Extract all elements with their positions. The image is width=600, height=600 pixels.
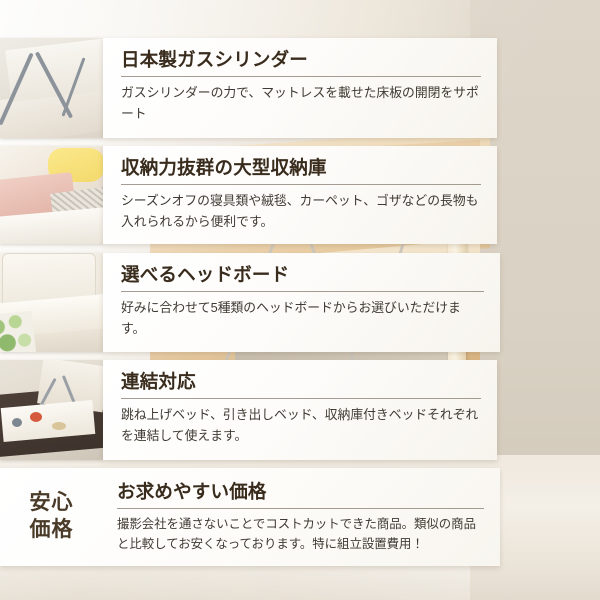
feature-description: ガスシリンダーの力で、マットレスを載せた床板の開閉をサポート [121,83,481,124]
badge-line-1: 安心 [0,490,103,517]
feature-card: 収納力抜群の大型収納庫 シーズンオフの寝具類や絨毯、カーペット、ゴザなどの長物も… [103,146,497,244]
feature-row-large-storage[interactable]: 収納力抜群の大型収納庫 シーズンオフの寝具類や絨毯、カーペット、ゴザなどの長物も… [0,146,497,244]
feature-row-gas-cylinder[interactable]: 日本製ガスシリンダー ガスシリンダーの力で、マットレスを載せた床板の開閉をサポー… [0,38,497,138]
feature-row-headboard-choice[interactable]: 選べるヘッドボード 好みに合わせて5種類のヘッドボードからお選びいただけます。 [0,253,500,352]
feature-title: 選べるヘッドボード [121,263,484,286]
badge-line-2: 価格 [0,517,103,544]
title-divider [121,291,484,292]
feature-title: お求めやすい価格 [117,480,484,503]
feature-title: 日本製ガスシリンダー [121,48,481,71]
feature-thumbnail-headboard [0,253,103,352]
feature-row-affordable-price[interactable]: 安心 価格 お求めやすい価格 撮影会社を通さないことでコストカットできた商品。類… [0,468,500,566]
price-assurance-badge: 安心 価格 [0,490,103,544]
feature-thumbnail-connected-beds [0,360,103,460]
feature-title: 収納力抜群の大型収納庫 [121,156,481,179]
feature-title: 連結対応 [121,370,481,393]
feature-card: 安心 価格 お求めやすい価格 撮影会社を通さないことでコストカットできた商品。類… [0,468,500,566]
feature-description: 撮影会社を通さないことでコストカットできた商品。類似の商品と比較してお安くなって… [117,515,484,553]
title-divider [121,76,481,77]
feature-card: 選べるヘッドボード 好みに合わせて5種類のヘッドボードからお選びいただけます。 [103,253,500,352]
feature-description: 好みに合わせて5種類のヘッドボードからお選びいただけます。 [121,298,484,339]
title-divider [121,398,481,399]
feature-list-page: 日本製ガスシリンダー ガスシリンダーの力で、マットレスを載せた床板の開閉をサポー… [0,0,600,600]
feature-description: シーズンオフの寝具類や絨毯、カーペット、ゴザなどの長物も入れられるから便利です。 [121,191,481,232]
feature-thumbnail-gas-cylinder [0,38,103,138]
title-divider [117,508,484,509]
feature-card: 日本製ガスシリンダー ガスシリンダーの力で、マットレスを載せた床板の開閉をサポー… [103,38,497,138]
feature-card: 連結対応 跳ね上げベッド、引き出しベッド、収納庫付きベッドそれぞれを連結して使え… [103,360,497,460]
feature-description: 跳ね上げベッド、引き出しベッド、収納庫付きベッドそれぞれを連結して使えます。 [121,405,481,446]
feature-thumbnail-large-storage [0,146,103,244]
title-divider [121,184,481,185]
feature-row-connectable[interactable]: 連結対応 跳ね上げベッド、引き出しベッド、収納庫付きベッドそれぞれを連結して使え… [0,360,497,460]
